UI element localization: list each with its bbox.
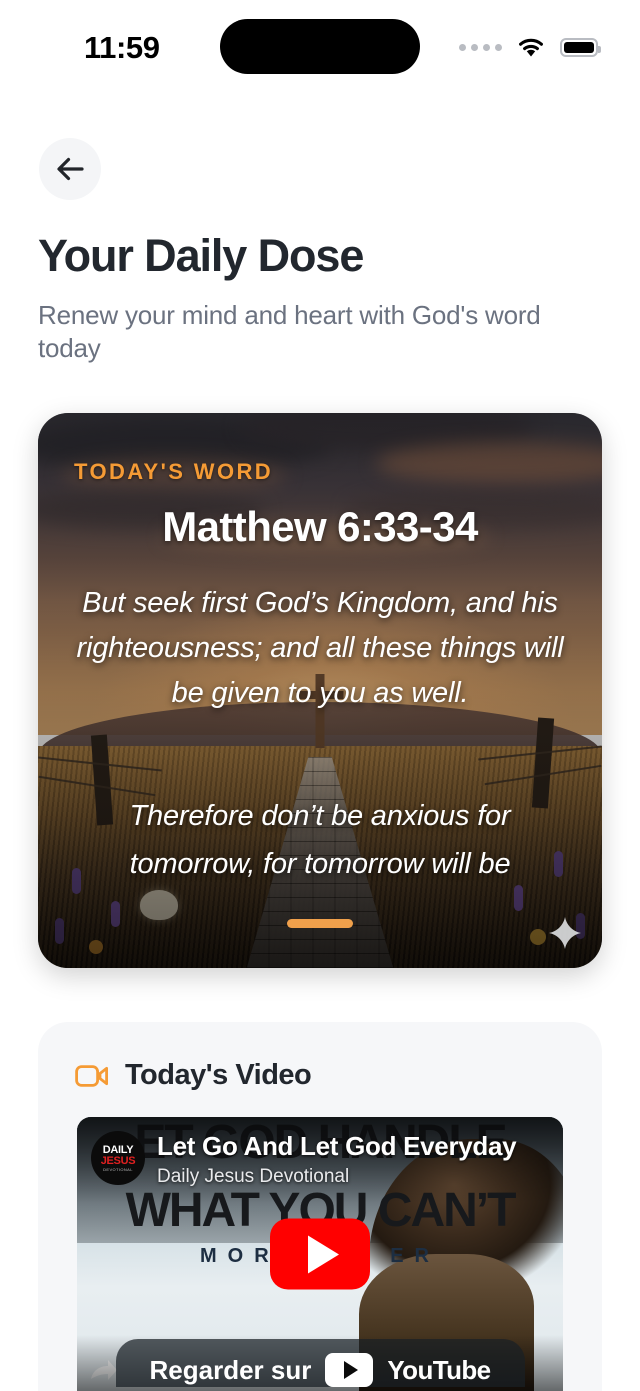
- verse-text-secondary: Therefore don’t be anxious for tomorrow,…: [74, 792, 566, 888]
- video-camera-icon: [75, 1063, 109, 1089]
- status-bar-time: 11:59: [84, 30, 160, 66]
- video-channel-name[interactable]: Daily Jesus Devotional: [157, 1166, 516, 1188]
- daily-verse-card[interactable]: TODAY'S WORD Matthew 6:33-34 But seek fi…: [38, 413, 602, 968]
- youtube-player[interactable]: ET GOD HANDLE WHAT YOU CAN’T MORNING ER …: [77, 1117, 563, 1391]
- dynamic-island: [220, 19, 420, 74]
- avatar-line-3: DEVOTIONAL: [103, 1168, 133, 1172]
- play-button[interactable]: [270, 1219, 370, 1290]
- status-bar-icons: [459, 36, 598, 58]
- player-bottom-bar: Regarder sur YouTube: [77, 1335, 563, 1391]
- back-arrow-icon: [55, 156, 85, 182]
- page-title: Your Daily Dose: [38, 230, 363, 282]
- verse-text-primary: But seek first God’s Kingdom, and his ri…: [74, 581, 566, 716]
- wifi-icon: [516, 36, 546, 58]
- cellular-dots-icon: [459, 44, 502, 51]
- video-section-title: Today's Video: [125, 1059, 311, 1092]
- page-subtitle: Renew your mind and heart with God's wor…: [38, 299, 568, 365]
- channel-avatar[interactable]: DAILY JESUS DEVOTIONAL: [91, 1131, 145, 1185]
- battery-icon: [560, 38, 598, 57]
- verse-scroll-indicator[interactable]: [287, 919, 353, 928]
- avatar-line-1: DAILY: [103, 1145, 134, 1156]
- back-button[interactable]: [39, 138, 101, 200]
- todays-video-card: Today's Video ET GOD HANDLE WHAT YOU CAN…: [38, 1022, 602, 1391]
- todays-word-label: TODAY'S WORD: [74, 459, 566, 485]
- youtube-logo-icon: [325, 1353, 373, 1387]
- video-title[interactable]: Let Go And Let God Everyday: [157, 1131, 516, 1162]
- player-meta[interactable]: DAILY JESUS DEVOTIONAL Let Go And Let Go…: [91, 1131, 553, 1188]
- watch-on-youtube-button[interactable]: Regarder sur YouTube: [116, 1339, 525, 1387]
- sparkle-icon: [548, 916, 582, 950]
- youtube-brand-label: YouTube: [387, 1355, 490, 1386]
- verse-reference: Matthew 6:33-34: [74, 503, 566, 551]
- watch-label: Regarder sur: [150, 1355, 312, 1386]
- status-bar: 11:59: [0, 0, 640, 96]
- play-triangle-icon: [308, 1235, 339, 1273]
- video-section-header: Today's Video: [38, 1022, 602, 1092]
- avatar-line-2: JESUS: [101, 1156, 136, 1167]
